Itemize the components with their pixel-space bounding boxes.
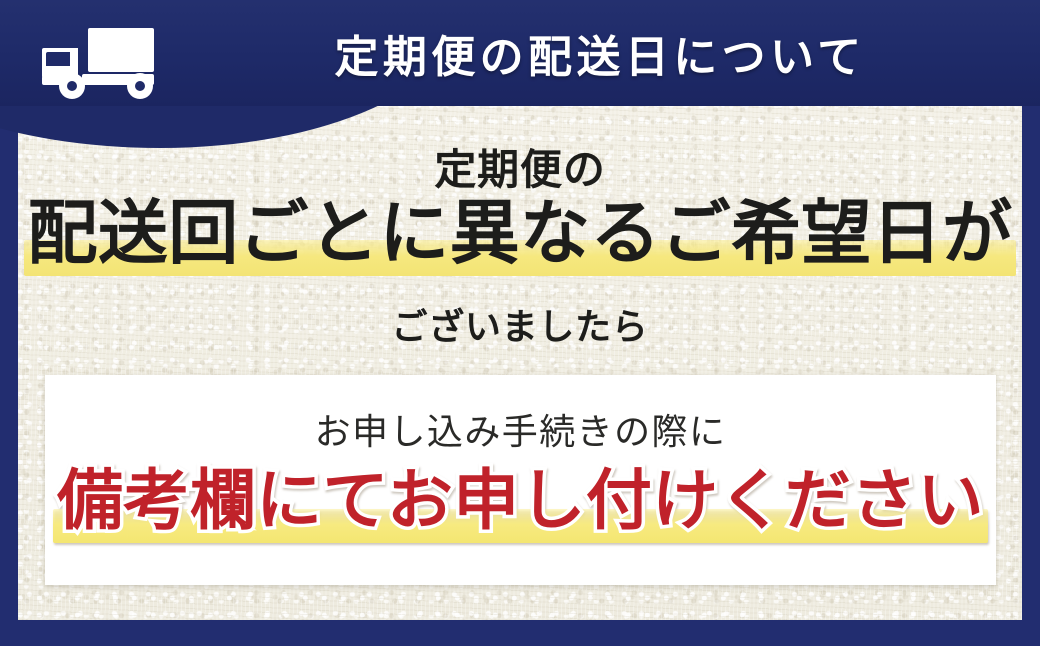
card-line-2: 備考欄にてお申し付けください xyxy=(51,463,990,545)
card-line-1: お申し込み手続きの際に xyxy=(45,403,996,455)
delivery-notice-banner: 定期便の配送日について 定期便の 配送回ごとに異なるご希望日が ございましたら … xyxy=(0,0,1040,646)
emphasis-line: 配送回ごとに異なるご希望日が xyxy=(24,194,1017,278)
card-line-2-text: 備考欄にてお申し付けください xyxy=(57,462,984,539)
header-title: 定期便の配送日について xyxy=(190,0,1010,106)
card-line-2-wrapper: 備考欄にてお申し付けください xyxy=(45,463,996,545)
emphasis-line-text: 配送回ごとに異なるご希望日が xyxy=(28,192,1013,274)
emphasis-line-wrapper: 配送回ごとに異なるご希望日が xyxy=(18,194,1022,278)
lead-line: 定期便の xyxy=(18,136,1022,197)
delivery-truck-icon xyxy=(30,20,170,104)
banner-body: 定期便の 配送回ごとに異なるご希望日が ございましたら お申し込み手続きの際に … xyxy=(18,106,1022,620)
instruction-card: お申し込み手続きの際に 備考欄にてお申し付けください xyxy=(45,375,996,585)
tail-line: ございましたら xyxy=(18,298,1022,350)
